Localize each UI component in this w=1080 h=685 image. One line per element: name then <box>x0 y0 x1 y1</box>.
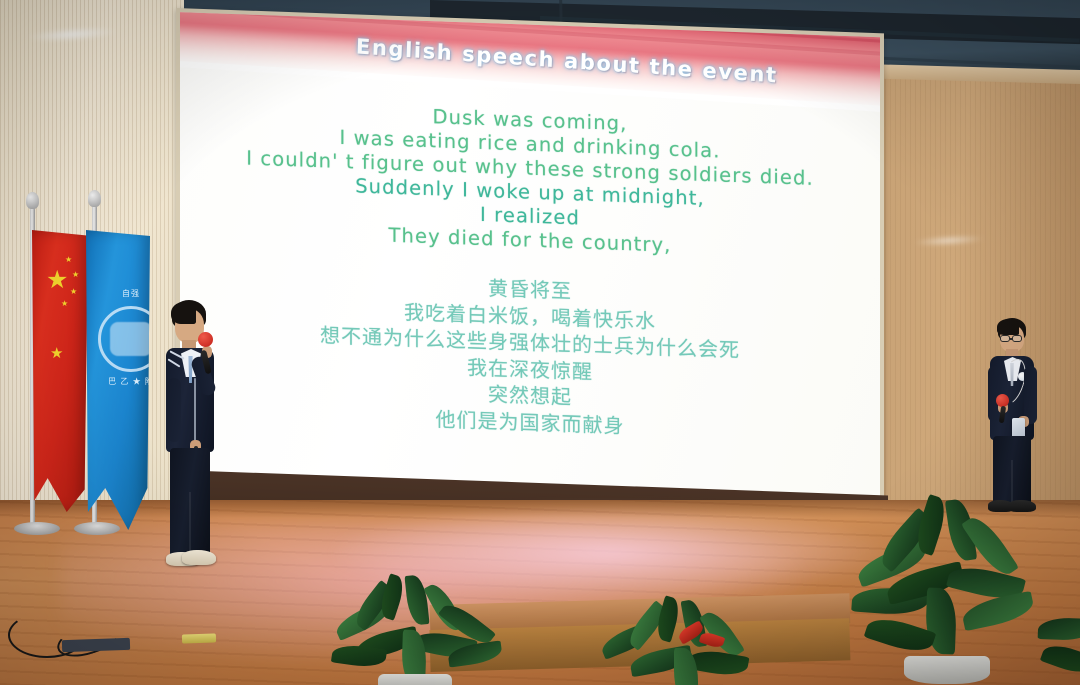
flag-stand-base <box>14 522 60 535</box>
flag-star-small: ★ <box>61 300 68 308</box>
plant-pot <box>904 656 990 684</box>
auditorium-scene: English speech about the event Dusk was … <box>0 0 1080 685</box>
leaf <box>960 591 1036 631</box>
leaf <box>1040 640 1080 678</box>
school-flag: 自强 巴 乙 ★ 附 <box>78 206 156 546</box>
shoe-right <box>182 550 216 565</box>
right-wall-reflection <box>914 233 985 247</box>
flag-emblem-core <box>110 322 152 356</box>
flag-cloth-blue: 自强 巴 乙 ★ 附 <box>86 230 150 530</box>
yellow-tape-marker <box>182 633 216 643</box>
trouser-seam <box>189 492 191 554</box>
student-speaker-left <box>160 300 256 580</box>
projection-screen-frame: English speech about the event Dusk was … <box>176 8 884 509</box>
slide-body: Dusk was coming, I was eating rice and d… <box>180 96 880 448</box>
flag-star-small: ★ <box>70 288 77 296</box>
trouser-seam <box>1011 460 1013 504</box>
potted-plant-center <box>600 610 830 685</box>
projection-screen: English speech about the event Dusk was … <box>180 12 880 503</box>
flag-pole-finial <box>88 190 101 207</box>
flag-stand-base <box>74 522 120 535</box>
cable-floor-plate <box>62 638 130 652</box>
microphone-head <box>198 332 213 347</box>
wall-light-reflection <box>26 25 119 44</box>
flag-star-large: ★ <box>46 268 68 293</box>
flag-star-extra: ★ <box>50 346 63 361</box>
leaf <box>1038 617 1080 641</box>
slide-chinese-block: 黄昏将至 我吃着白米饭，喝着快乐水 想不通为什么这些身强体壮的士兵为什么会死 我… <box>180 264 880 448</box>
left-arm <box>167 378 181 442</box>
flag-pole-finial <box>26 192 39 209</box>
hair-fringe <box>997 319 1019 335</box>
flag-star-small: ★ <box>65 256 72 264</box>
glasses-right-lens <box>1012 335 1022 342</box>
glasses-left-lens <box>1000 335 1010 342</box>
student-speaker-right <box>984 318 1064 518</box>
hair-fringe <box>171 302 196 324</box>
plant-pot <box>378 674 452 685</box>
shoe-right <box>1008 500 1036 512</box>
glasses-bridge <box>1010 338 1013 340</box>
potted-plant-left <box>330 588 540 685</box>
potted-plant-right <box>852 512 1080 685</box>
